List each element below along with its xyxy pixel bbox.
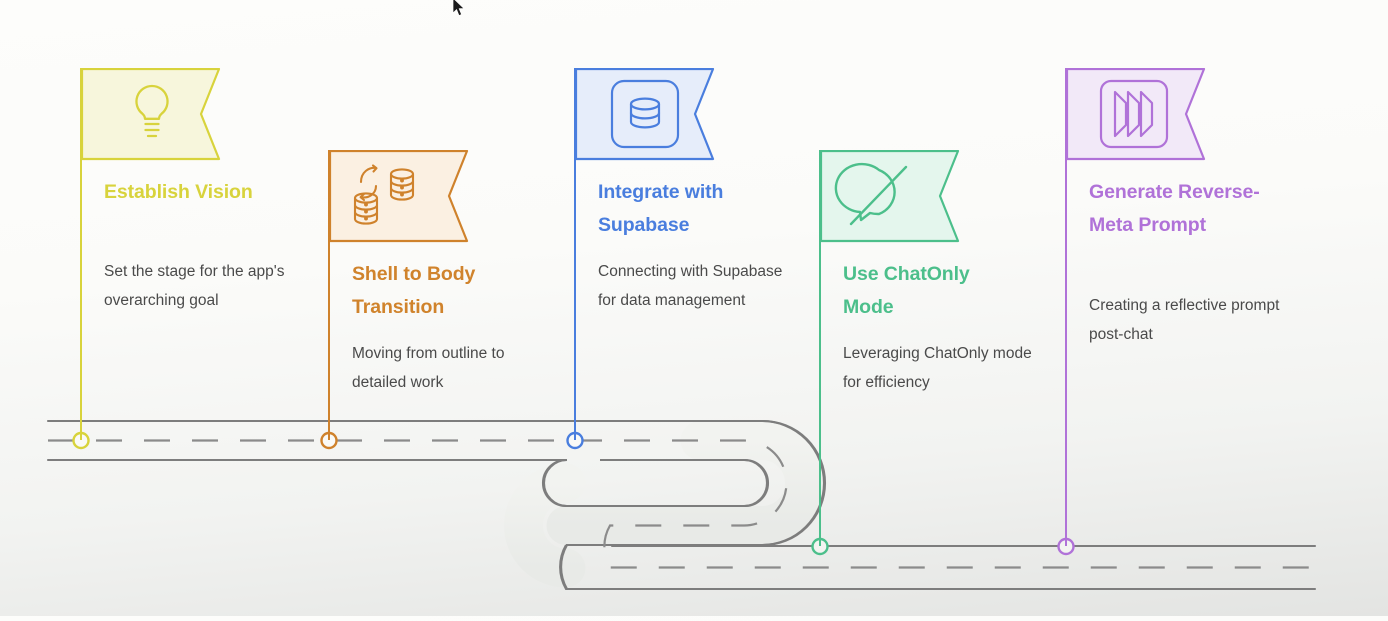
flag-integrate-with-supabase — [575, 68, 717, 160]
milestone-title: Generate Reverse-Meta Prompt — [1089, 176, 1269, 241]
flag-establish-vision — [81, 68, 223, 160]
road-center-dashes — [48, 441, 1315, 568]
milestone-title: Use ChatOnly Mode — [843, 258, 1023, 323]
flag-shell-to-body-transition — [329, 150, 471, 242]
milestone-title: Establish Vision — [104, 176, 284, 209]
road-edges — [48, 421, 1315, 589]
flag-use-chatonly-mode — [820, 150, 962, 242]
milestone-description: Set the stage for the app's overarching … — [104, 258, 300, 315]
milestone-title: Shell to Body Transition — [352, 258, 532, 323]
road-edge-lines — [48, 421, 1315, 589]
milestone-description: Leveraging ChatOnly mode for efficiency — [843, 340, 1039, 397]
milestone-description: Creating a reflective prompt post-chat — [1089, 292, 1285, 349]
road-surface — [48, 439, 1315, 568]
milestone-title: Integrate with Supabase — [598, 176, 778, 241]
flag-generate-reverse-meta-prompt — [1066, 68, 1208, 160]
mouse-pointer-icon — [452, 0, 466, 18]
roadmap-canvas: Establish Vision Set the stage for the a… — [0, 0, 1388, 616]
road-markers — [74, 433, 1074, 554]
milestone-description: Connecting with Supabase for data manage… — [598, 258, 794, 315]
milestone-description: Moving from outline to detailed work — [352, 340, 548, 397]
